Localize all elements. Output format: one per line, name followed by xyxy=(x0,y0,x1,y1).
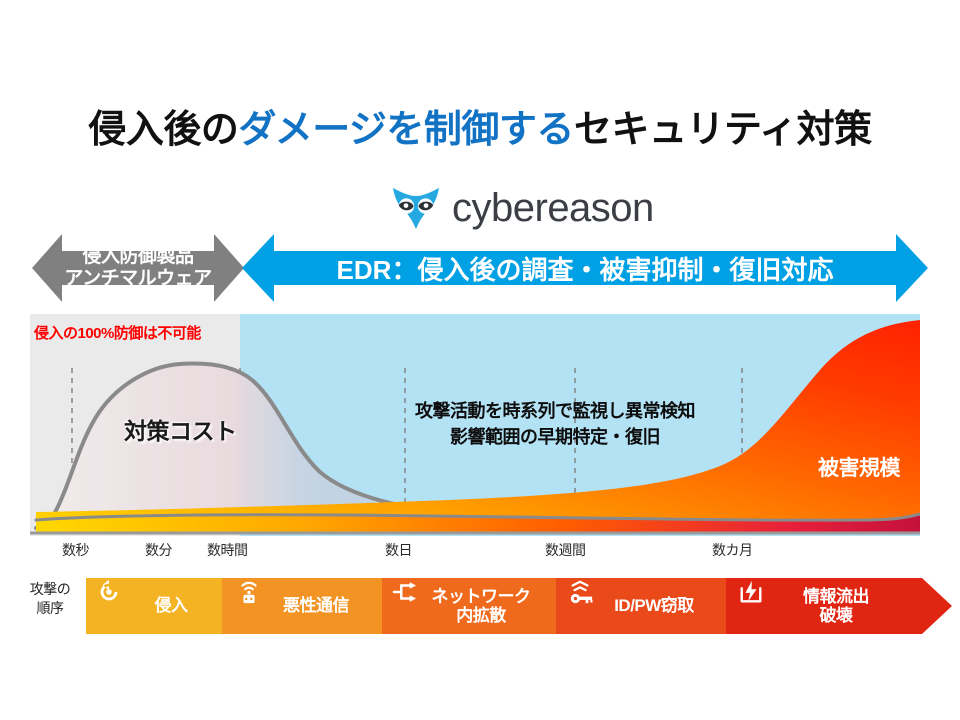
page-title-highlight: ダメージを制御する xyxy=(238,109,574,151)
axis-tick-4: 数週間 xyxy=(545,540,586,560)
attack-sequence-caption: 攻撃の 順序 xyxy=(16,580,84,618)
double-arrow-blue-icon xyxy=(242,232,928,304)
attack-sequence-strip: 侵入 悪性通信 ネットワーク 内拡散 xyxy=(86,578,952,634)
x-axis-labels: 数秒 数分 数時間 数日 数週間 数カ月 xyxy=(0,540,960,562)
logo-wordmark: cybereason xyxy=(452,188,654,228)
axis-tick-3: 数日 xyxy=(385,540,412,560)
edr-value-label: 攻撃活動を時系列で監視し異常検知 影響範囲の早期特定・復旧 xyxy=(390,398,720,450)
cybereason-logo: cybereason xyxy=(392,186,654,230)
attack-sequence-caption-line1: 攻撃の xyxy=(16,580,84,599)
cost-curve-label: 対策コスト xyxy=(124,412,237,446)
page-title-lead: 侵入後の xyxy=(88,109,238,151)
axis-tick-0: 数秒 xyxy=(62,540,89,560)
attack-sequence: 攻撃の 順序 侵入 xyxy=(0,578,960,634)
owl-icon xyxy=(392,186,440,230)
axis-tick-5: 数カ月 xyxy=(712,540,753,560)
impossible-note: 侵入の100%防御は不可能 xyxy=(34,322,201,343)
damage-curve-label: 被害規模 xyxy=(818,452,900,482)
prevention-band: 侵入防御製品 アンチマルウェア xyxy=(32,232,244,304)
edr-value-line2: 影響範囲の早期特定・復旧 xyxy=(390,424,720,450)
edr-value-line1: 攻撃活動を時系列で監視し異常検知 xyxy=(390,398,720,424)
double-arrow-gray-icon xyxy=(32,232,244,304)
attack-sequence-caption-line2: 順序 xyxy=(16,599,84,618)
page-title: 侵入後のダメージを制御するセキュリティ対策 xyxy=(0,98,960,153)
chevron-step-3 xyxy=(382,578,586,634)
axis-tick-2: 数時間 xyxy=(207,540,248,560)
sequence-chevrons xyxy=(86,578,952,634)
chevron-step-5 xyxy=(726,578,952,634)
axis-tick-1: 数分 xyxy=(145,540,172,560)
page-title-tail: セキュリティ対策 xyxy=(574,109,872,151)
edr-band: EDR：侵入後の調査・被害抑制・復旧対応 xyxy=(242,232,928,304)
